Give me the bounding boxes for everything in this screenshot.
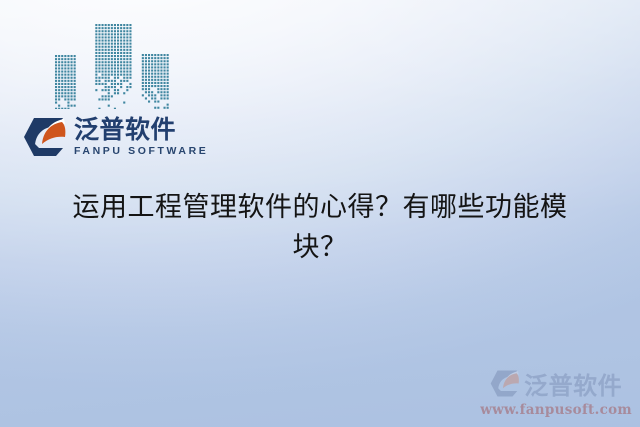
watermark-url: www.fanpusoft.com	[480, 402, 632, 418]
dotted-skyline-buildings-icon	[55, 11, 175, 109]
brand-name-en: FANPU SOFTWARE	[74, 146, 208, 157]
brand-text-block: 泛普软件 FANPU SOFTWARE	[74, 117, 208, 157]
watermark-logo-row: 泛普软件	[490, 366, 622, 401]
poster-canvas: 泛普软件 FANPU SOFTWARE 运用工程管理软件的心得？有哪些功能模块？…	[0, 0, 640, 427]
fanpu-hexagon-swoosh-icon	[490, 369, 520, 398]
brand-name-cn: 泛普软件	[74, 117, 208, 142]
watermark-brand-name: 泛普软件	[524, 366, 622, 401]
watermark: 泛普软件 www.fanpusoft.com	[480, 366, 632, 418]
page-title: 运用工程管理软件的心得？有哪些功能模块？	[50, 188, 590, 268]
brand-logo-lockup: 泛普软件 FANPU SOFTWARE	[23, 116, 208, 158]
fanpu-hexagon-swoosh-icon	[23, 116, 67, 158]
